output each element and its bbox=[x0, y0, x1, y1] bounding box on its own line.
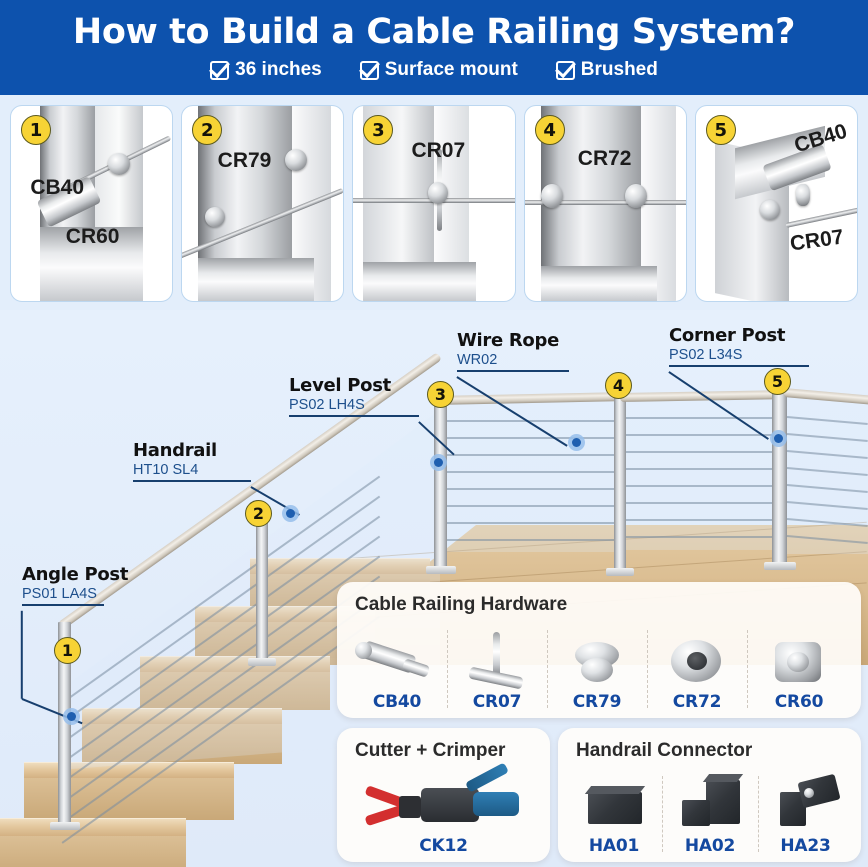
callout-code: HT10 SL4 bbox=[133, 462, 251, 478]
panel-handrail-connector: Handrail Connector HA01 HA02 bbox=[558, 728, 861, 862]
callout-code: WR02 bbox=[457, 352, 569, 368]
callout-code: PS02 LH4S bbox=[289, 397, 419, 413]
straight-connector-icon bbox=[566, 770, 662, 834]
step-part-label: CB40 bbox=[30, 176, 84, 200]
swage-stud-icon bbox=[347, 624, 447, 690]
step-badge-5: 5 bbox=[706, 115, 736, 145]
step-card-4: 4 CR72 bbox=[524, 105, 687, 302]
step-card-2: 2 CR79 bbox=[181, 105, 344, 302]
connector-item-ha01[interactable]: HA01 bbox=[566, 770, 662, 856]
stair-mid-post bbox=[256, 516, 268, 664]
hardware-code: CR79 bbox=[573, 692, 621, 712]
callout-title: Handrail bbox=[133, 440, 251, 461]
adjustable-connector-icon bbox=[758, 770, 853, 834]
callout-handrail: Handrail HT10 SL4 bbox=[133, 440, 251, 482]
hardware-code: CR72 bbox=[673, 692, 721, 712]
railing-diagram: Angle Post PS01 LA4S 1 Handrail HT10 SL4… bbox=[0, 310, 868, 867]
hardware-code: CR60 bbox=[775, 692, 823, 712]
step-card-3: 3 CR07 bbox=[352, 105, 515, 302]
spec-item-2: Brushed bbox=[556, 59, 658, 81]
tension-tube-icon bbox=[447, 624, 547, 690]
spec-label: Brushed bbox=[581, 59, 658, 81]
checkbox-checked-icon bbox=[556, 61, 575, 80]
hardware-item-cr79[interactable]: CR79 bbox=[547, 624, 647, 712]
spec-item-1: Surface mount bbox=[360, 59, 518, 81]
checkbox-checked-icon bbox=[360, 61, 379, 80]
hardware-item-cb40[interactable]: CB40 bbox=[347, 624, 447, 712]
callout-code: PS02 L34S bbox=[669, 347, 809, 363]
step-cards-row: 1 CB40 CR60 2 CR79 bbox=[0, 95, 868, 310]
callout-title: Angle Post bbox=[22, 564, 128, 585]
callout-title: Level Post bbox=[289, 375, 419, 396]
panel-title: Cutter + Crimper bbox=[355, 740, 505, 762]
tool-code: CK12 bbox=[419, 836, 468, 856]
level-cable-field-mid bbox=[626, 398, 774, 550]
corner-post bbox=[772, 388, 787, 568]
step-card-5: 5 CB40 CR07 bbox=[695, 105, 858, 302]
callout-dot-corner-post bbox=[770, 430, 787, 447]
hardware-item-cr07[interactable]: CR07 bbox=[447, 624, 547, 712]
cable-end-icon bbox=[647, 624, 747, 690]
callout-corner-post: Corner Post PS02 L34S bbox=[669, 325, 809, 367]
diagram-badge-3: 3 bbox=[427, 381, 454, 408]
hardware-code: CB40 bbox=[373, 692, 421, 712]
step-badge-4: 4 bbox=[535, 115, 565, 145]
hardware-item-cr72[interactable]: CR72 bbox=[647, 624, 747, 712]
spec-item-0: 36 inches bbox=[210, 59, 322, 81]
callout-code: PS01 LA4S bbox=[22, 586, 128, 602]
hardware-item-cr60[interactable]: CR60 bbox=[747, 624, 851, 712]
step-part-label: CR72 bbox=[578, 147, 632, 171]
step-badge-2: 2 bbox=[192, 115, 222, 145]
step-part-label: CR07 bbox=[411, 139, 465, 163]
callout-dot-angle-post bbox=[63, 708, 80, 725]
step-badge-1: 1 bbox=[21, 115, 51, 145]
callout-dot-handrail bbox=[282, 505, 299, 522]
callout-dot-level-post bbox=[430, 454, 447, 471]
corner-connector-icon bbox=[662, 770, 758, 834]
level-post-middle bbox=[614, 392, 626, 574]
spec-label: 36 inches bbox=[235, 59, 322, 81]
connector-item-ha23[interactable]: HA23 bbox=[758, 770, 853, 856]
panel-cable-railing-hardware: Cable Railing Hardware CB40 CR07 bbox=[337, 582, 861, 718]
callout-angle-post: Angle Post PS01 LA4S bbox=[22, 564, 128, 606]
infographic-page: How to Build a Cable Railing System? 36 … bbox=[0, 0, 868, 867]
header-spec-list: 36 inches Surface mount Brushed bbox=[210, 59, 658, 81]
connector-code: HA01 bbox=[589, 836, 639, 856]
header-banner: How to Build a Cable Railing System? 36 … bbox=[0, 0, 868, 95]
tool-item-ck12[interactable]: CK12 bbox=[347, 770, 540, 856]
step-card-1: 1 CB40 CR60 bbox=[10, 105, 173, 302]
connector-code: HA02 bbox=[685, 836, 735, 856]
spec-label: Surface mount bbox=[385, 59, 518, 81]
callout-dot-wire-rope bbox=[568, 434, 585, 451]
step-part-label: CR79 bbox=[218, 149, 272, 173]
knurled-nut-icon bbox=[747, 624, 851, 690]
diagram-badge-2: 2 bbox=[245, 500, 272, 527]
panel-title: Handrail Connector bbox=[576, 740, 752, 762]
diagram-badge-1: 1 bbox=[54, 637, 81, 664]
flange-washer-icon bbox=[547, 624, 647, 690]
connector-code: HA23 bbox=[780, 836, 830, 856]
cutter-crimper-icon bbox=[347, 770, 540, 834]
hardware-code: CR07 bbox=[473, 692, 521, 712]
callout-level-post: Level Post PS02 LH4S bbox=[289, 375, 419, 417]
panel-cutter-crimper: Cutter + Crimper CK12 bbox=[337, 728, 550, 862]
level-post bbox=[434, 394, 447, 572]
diagram-badge-5: 5 bbox=[764, 368, 791, 395]
level-cable-field-left bbox=[440, 402, 620, 552]
panel-title: Cable Railing Hardware bbox=[355, 594, 567, 616]
diagram-badge-4: 4 bbox=[605, 372, 632, 399]
step-part-label: CR60 bbox=[66, 225, 120, 249]
callout-title: Corner Post bbox=[669, 325, 809, 346]
callout-title: Wire Rope bbox=[457, 330, 569, 351]
callout-wire-rope: Wire Rope WR02 bbox=[457, 330, 569, 372]
checkbox-checked-icon bbox=[210, 61, 229, 80]
connector-item-ha02[interactable]: HA02 bbox=[662, 770, 758, 856]
page-title: How to Build a Cable Railing System? bbox=[73, 14, 795, 51]
